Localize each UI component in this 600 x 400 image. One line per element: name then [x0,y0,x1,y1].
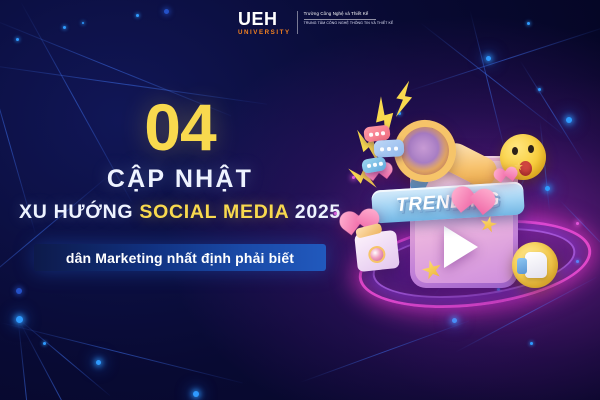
ueh-logo[interactable]: UEH UNIVERSITY Trường Công Nghệ và Thiết… [238,10,393,36]
logo-school-line: Trường Công Nghệ và Thiết Kế [304,11,394,17]
logo-rule [304,19,376,20]
subtitle-text: dân Marketing nhất định phải biết [34,244,326,271]
headline-block: 04 CẬP NHẬT XU HƯỚNG SOCIAL MEDIA 2025 [0,96,360,224]
thumb-cuff [517,258,527,274]
thumb-shape [525,252,547,278]
logo-ueh-text: UEH [238,10,278,28]
logo-divider [297,11,298,34]
heart-icon [499,169,513,183]
play-button-icon [444,226,478,268]
headline-line-3: XU HƯỚNG SOCIAL MEDIA 2025 [0,201,360,224]
subtitle-ribbon: dân Marketing nhất định phải biết [34,244,326,271]
issue-number: 04 [0,96,360,159]
camera-lens [368,245,387,264]
headline-line-3-highlight: SOCIAL MEDIA [139,201,288,223]
headline-line-3-prefix: XU HƯỚNG [19,201,139,223]
logo-university-text: UNIVERSITY [238,30,291,36]
poster-canvas: UEH UNIVERSITY Trường Công Nghệ và Thiết… [0,0,600,400]
chat-bubble-icon [374,139,405,158]
trending-illustration: TRENDING [352,74,600,304]
lightning-bolt-icon [389,78,419,120]
headline-line-3-year: 2025 [289,201,341,223]
logo-mark: UEH UNIVERSITY [238,10,291,36]
camera-icon [354,230,400,272]
emoji-mouth [519,161,532,176]
thumbs-up-icon [512,242,558,288]
heart-icon [461,191,485,215]
logo-text-block: Trường Công Nghệ và Thiết Kế TRUNG TÂM C… [304,10,394,26]
headline-line-2: CẬP NHẬT [0,165,360,194]
logo-center-line: TRUNG TÂM CÔNG NGHỆ THÔNG TIN VÀ THIẾT K… [304,21,394,26]
